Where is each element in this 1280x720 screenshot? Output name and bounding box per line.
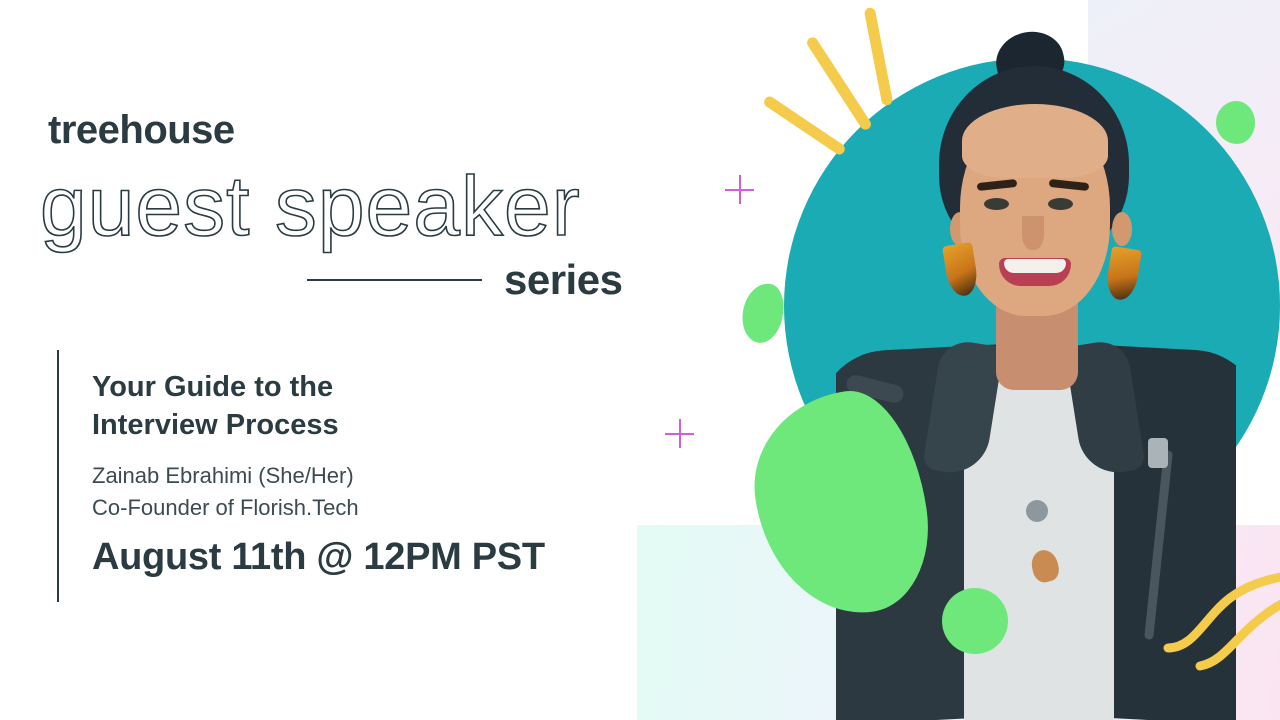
earring-right [1104, 246, 1142, 302]
headline-guest-speaker: guest speaker [40, 158, 581, 255]
jacket-zipper-pull [1148, 438, 1168, 468]
eye-left [984, 198, 1009, 210]
speaker-block: Zainab Ebrahimi (She/Her) Co-Founder of … [92, 460, 562, 524]
yellow-burst-stroke-1 [762, 94, 847, 156]
green-pill-shape [737, 279, 789, 346]
nose [1022, 216, 1044, 250]
ear-right [1112, 212, 1132, 246]
forehead [962, 104, 1108, 178]
series-row: series [307, 252, 625, 308]
guest-speaker-promo-slide: treehouse guest speaker series Your Guid… [0, 0, 1280, 720]
speaker-name: Zainab Ebrahimi (She/Her) [92, 460, 562, 492]
talk-title-line-1: Your Guide to the [92, 368, 562, 406]
brand-wordmark: treehouse [48, 108, 235, 153]
green-circle-bottom [942, 588, 1008, 654]
series-divider-rule [307, 279, 482, 281]
yellow-wave-strokes [1160, 570, 1280, 680]
magenta-plus-icon-upper [725, 175, 754, 204]
vertical-accent-rule [57, 350, 59, 602]
jacket-snap-stud [1026, 500, 1048, 522]
magenta-plus-icon-lower [665, 419, 694, 448]
talk-title-line-2: Interview Process [92, 406, 562, 444]
mouth [999, 258, 1071, 286]
eye-right [1048, 198, 1073, 210]
event-datetime: August 11th @ 12PM PST [92, 536, 545, 579]
teeth [1004, 259, 1066, 273]
green-circle-top-right [1216, 101, 1255, 144]
speaker-role: Co-Founder of Florish.Tech [92, 492, 562, 524]
series-label: series [504, 256, 622, 304]
talk-title: Your Guide to the Interview Process [92, 368, 562, 445]
